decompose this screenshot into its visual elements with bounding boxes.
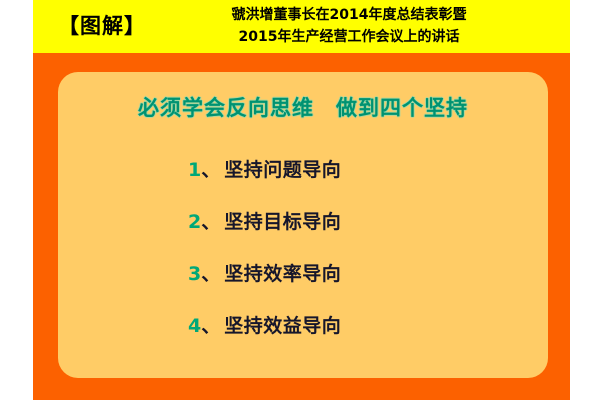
list-item-label: 坚持效益导向 (224, 300, 341, 352)
list-item: 2 、 坚持目标导向 (188, 196, 418, 248)
keypoint-list: 1 、 坚持问题导向 2 、 坚持目标导向 3 、 坚持效率导向 4 、 (58, 144, 548, 352)
header-band: 【图解】 虢洪增董事长在2014年度总结表彰暨 2015年生产经营工作会议上的讲… (33, 0, 570, 53)
list-item-label: 坚持问题导向 (224, 144, 341, 196)
list-item: 1 、 坚持问题导向 (188, 144, 418, 196)
content-card: 必须学会反向思维 做到四个坚持 1 、 坚持问题导向 2 、 坚持目标导向 3 … (58, 72, 548, 378)
list-item-label: 坚持目标导向 (224, 196, 341, 248)
list-item-number: 4 (188, 300, 201, 352)
list-item: 4 、 坚持效益导向 (188, 300, 418, 352)
list-item-label: 坚持效率导向 (224, 248, 341, 300)
list-item-separator: 、 (201, 144, 220, 196)
header-tag-label: 【图解】 (58, 16, 146, 37)
list-item-separator: 、 (201, 300, 220, 352)
list-item: 3 、 坚持效率导向 (188, 248, 418, 300)
list-item-number: 3 (188, 248, 201, 300)
slide-canvas: 【图解】 虢洪增董事长在2014年度总结表彰暨 2015年生产经营工作会议上的讲… (0, 0, 600, 400)
list-item-separator: 、 (201, 196, 220, 248)
header-title-block: 虢洪增董事长在2014年度总结表彰暨 2015年生产经营工作会议上的讲话 (146, 5, 570, 48)
list-item-separator: 、 (201, 248, 220, 300)
header-title-line-1: 虢洪增董事长在2014年度总结表彰暨 (146, 5, 552, 27)
list-item-number: 1 (188, 144, 201, 196)
card-title: 必须学会反向思维 做到四个坚持 (58, 92, 548, 122)
orange-body-panel: 必须学会反向思维 做到四个坚持 1 、 坚持问题导向 2 、 坚持目标导向 3 … (33, 53, 570, 400)
header-title-line-2: 2015年生产经营工作会议上的讲话 (146, 27, 552, 49)
list-item-number: 2 (188, 196, 201, 248)
